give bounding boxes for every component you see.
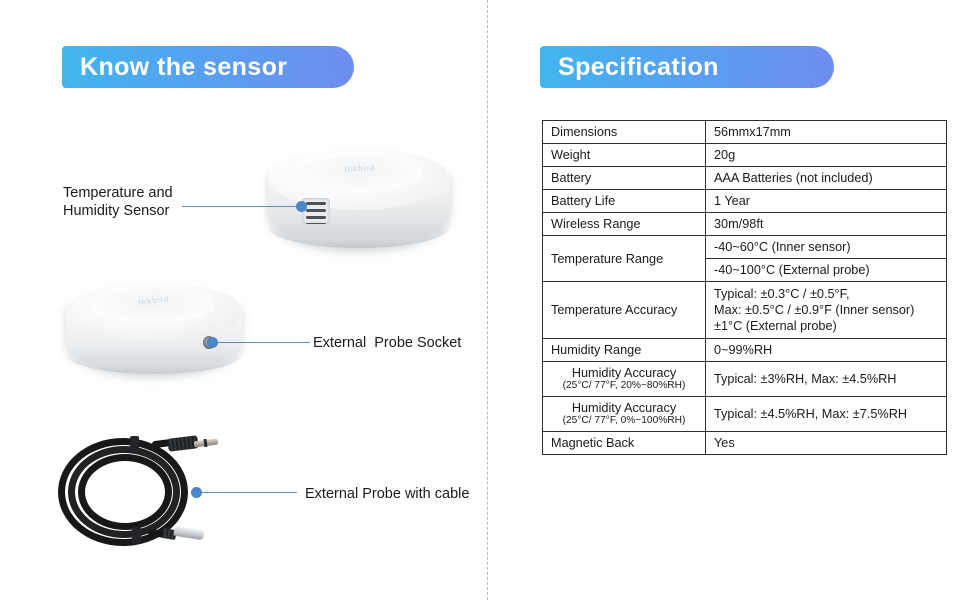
- callout-leader-temp-humidity-sensor: [182, 206, 300, 207]
- spec-value-cell: -40~100°C (External probe): [706, 259, 947, 282]
- specification-table-body: Dimensions56mmx17mmWeight20gBatteryAAA B…: [543, 121, 947, 455]
- callout-leader-external-probe-with-cable: [197, 492, 297, 493]
- spec-key-cell: Magnetic Back: [543, 432, 706, 455]
- callout-leader-external-probe-socket: [212, 342, 310, 343]
- table-row: Humidity Accuracy(25°C/ 77°F, 20%~80%RH)…: [543, 362, 947, 397]
- cable-coil-inner: [78, 454, 172, 530]
- spec-key-cell: Humidity Accuracy(25°C/ 77°F, 0%~100%RH): [543, 397, 706, 432]
- external-probe-with-cable-image: [44, 424, 230, 548]
- callout-dot-external-probe-socket: [207, 337, 218, 348]
- spec-key-cell: Weight: [543, 144, 706, 167]
- sensor-body-rim: [268, 226, 450, 248]
- table-row: Weight20g: [543, 144, 947, 167]
- know-the-sensor-title: Know the sensor: [62, 53, 287, 82]
- spec-value-cell: -40~60°C (Inner sensor): [706, 236, 947, 259]
- table-row: Humidity Accuracy(25°C/ 77°F, 0%~100%RH)…: [543, 397, 947, 432]
- spec-key-label: Magnetic Back: [551, 436, 634, 450]
- table-row: Temperature Range-40~60°C (Inner sensor): [543, 236, 947, 259]
- spec-value-cell: AAA Batteries (not included): [706, 167, 947, 190]
- cable-tie-bottom: [132, 527, 141, 543]
- specification-title: Specification: [540, 53, 719, 82]
- table-row: Humidity Range0~99%RH: [543, 339, 947, 362]
- spec-key-label: Dimensions: [551, 125, 617, 139]
- spec-value-cell: 20g: [706, 144, 947, 167]
- sensor-top-dish: [296, 156, 422, 192]
- spec-key-cell: Temperature Accuracy: [543, 282, 706, 339]
- external-probe-socket-image: Inkbird: [62, 278, 252, 386]
- spec-value-cell: Typical: ±3%RH, Max: ±4.5%RH: [706, 362, 947, 397]
- spec-value-cell: Typical: ±4.5%RH, Max: ±7.5%RH: [706, 397, 947, 432]
- know-the-sensor-banner: Know the sensor: [62, 46, 354, 88]
- spec-key-label: Battery: [551, 171, 591, 185]
- spec-key-label: Humidity Range: [551, 343, 641, 357]
- callout-label-temp-humidity-sensor: Temperature and Humidity Sensor: [63, 184, 173, 220]
- spec-key-sublabel: (25°C/ 77°F, 0%~100%RH): [551, 415, 697, 427]
- spec-key-cell: Dimensions: [543, 121, 706, 144]
- spec-key-cell: Temperature Range: [543, 236, 706, 282]
- spec-key-label: Temperature Range: [551, 252, 663, 266]
- spec-key-label: Humidity Accuracy: [572, 366, 676, 380]
- spec-value-cell: 30m/98ft: [706, 213, 947, 236]
- sensor-vent-grille-icon: [302, 198, 330, 224]
- table-row: Wireless Range30m/98ft: [543, 213, 947, 236]
- probe-metal-tip: [173, 526, 204, 541]
- spec-key-label: Temperature Accuracy: [551, 303, 677, 317]
- temperature-humidity-sensor-image: Inkbird: [262, 142, 462, 260]
- cable-tie-top: [130, 436, 139, 452]
- spec-value-cell: Typical: ±0.3°C / ±0.5°F,Max: ±0.5°C / ±…: [706, 282, 947, 339]
- spec-key-label: Humidity Accuracy: [572, 401, 676, 415]
- sensor2-body-rim: [66, 354, 242, 374]
- table-row: BatteryAAA Batteries (not included): [543, 167, 947, 190]
- spec-value-cell: Yes: [706, 432, 947, 455]
- callout-label-external-probe-with-cable: External Probe with cable: [305, 485, 469, 503]
- callout-dot-external-probe-with-cable: [191, 487, 202, 498]
- spec-key-sublabel: (25°C/ 77°F, 20%~80%RH): [551, 380, 697, 392]
- specification-table: Dimensions56mmx17mmWeight20gBatteryAAA B…: [542, 120, 947, 455]
- table-row: Temperature AccuracyTypical: ±0.3°C / ±0…: [543, 282, 947, 339]
- spec-key-cell: Battery Life: [543, 190, 706, 213]
- spec-key-cell: Humidity Range: [543, 339, 706, 362]
- spec-key-cell: Wireless Range: [543, 213, 706, 236]
- table-row: Battery Life1 Year: [543, 190, 947, 213]
- spec-key-label: Wireless Range: [551, 217, 641, 231]
- specification-banner: Specification: [540, 46, 834, 88]
- callout-label-external-probe-socket: External Probe Socket: [313, 334, 461, 352]
- table-row: Dimensions56mmx17mm: [543, 121, 947, 144]
- know-the-sensor-panel: Know the sensor Inkbird Inkbird: [0, 0, 488, 600]
- spec-key-label: Weight: [551, 148, 590, 162]
- table-row: Magnetic BackYes: [543, 432, 947, 455]
- spec-value-cell: 56mmx17mm: [706, 121, 947, 144]
- spec-key-cell: Humidity Accuracy(25°C/ 77°F, 20%~80%RH): [543, 362, 706, 397]
- spec-value-cell: 1 Year: [706, 190, 947, 213]
- sensor2-top-dish: [92, 289, 214, 323]
- spec-key-cell: Battery: [543, 167, 706, 190]
- spec-value-cell: 0~99%RH: [706, 339, 947, 362]
- spec-key-label: Battery Life: [551, 194, 615, 208]
- callout-dot-temp-humidity-sensor: [296, 201, 307, 212]
